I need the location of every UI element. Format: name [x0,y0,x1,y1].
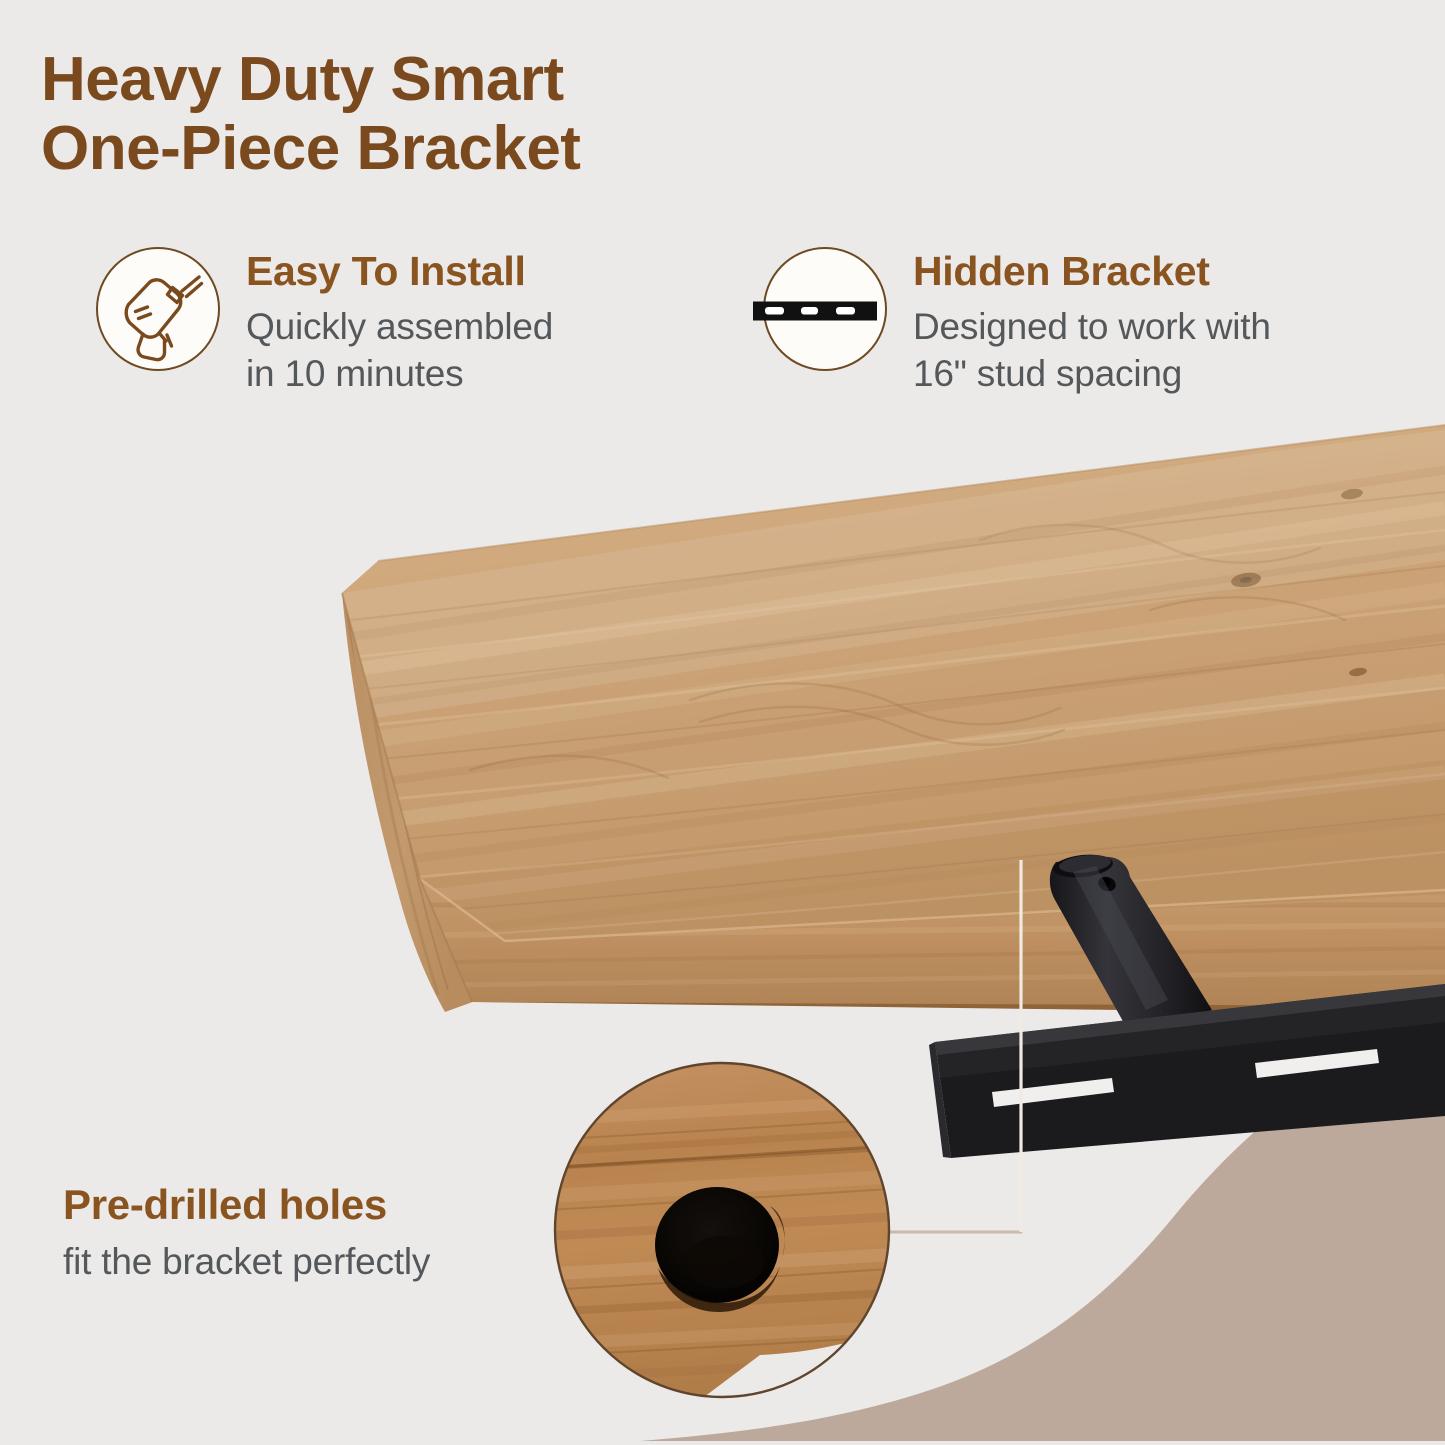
caption-subtitle: fit the bracket perfectly [63,1240,430,1284]
caption-title: Pre-drilled holes [63,1184,430,1226]
pre-drilled-hole-magnifier [545,1063,905,1400]
pre-drilled-holes-caption: Pre-drilled holes fit the bracket perfec… [63,1184,430,1284]
poster-canvas: Heavy Duty Smart One-Piece Bracket [0,0,1445,1445]
